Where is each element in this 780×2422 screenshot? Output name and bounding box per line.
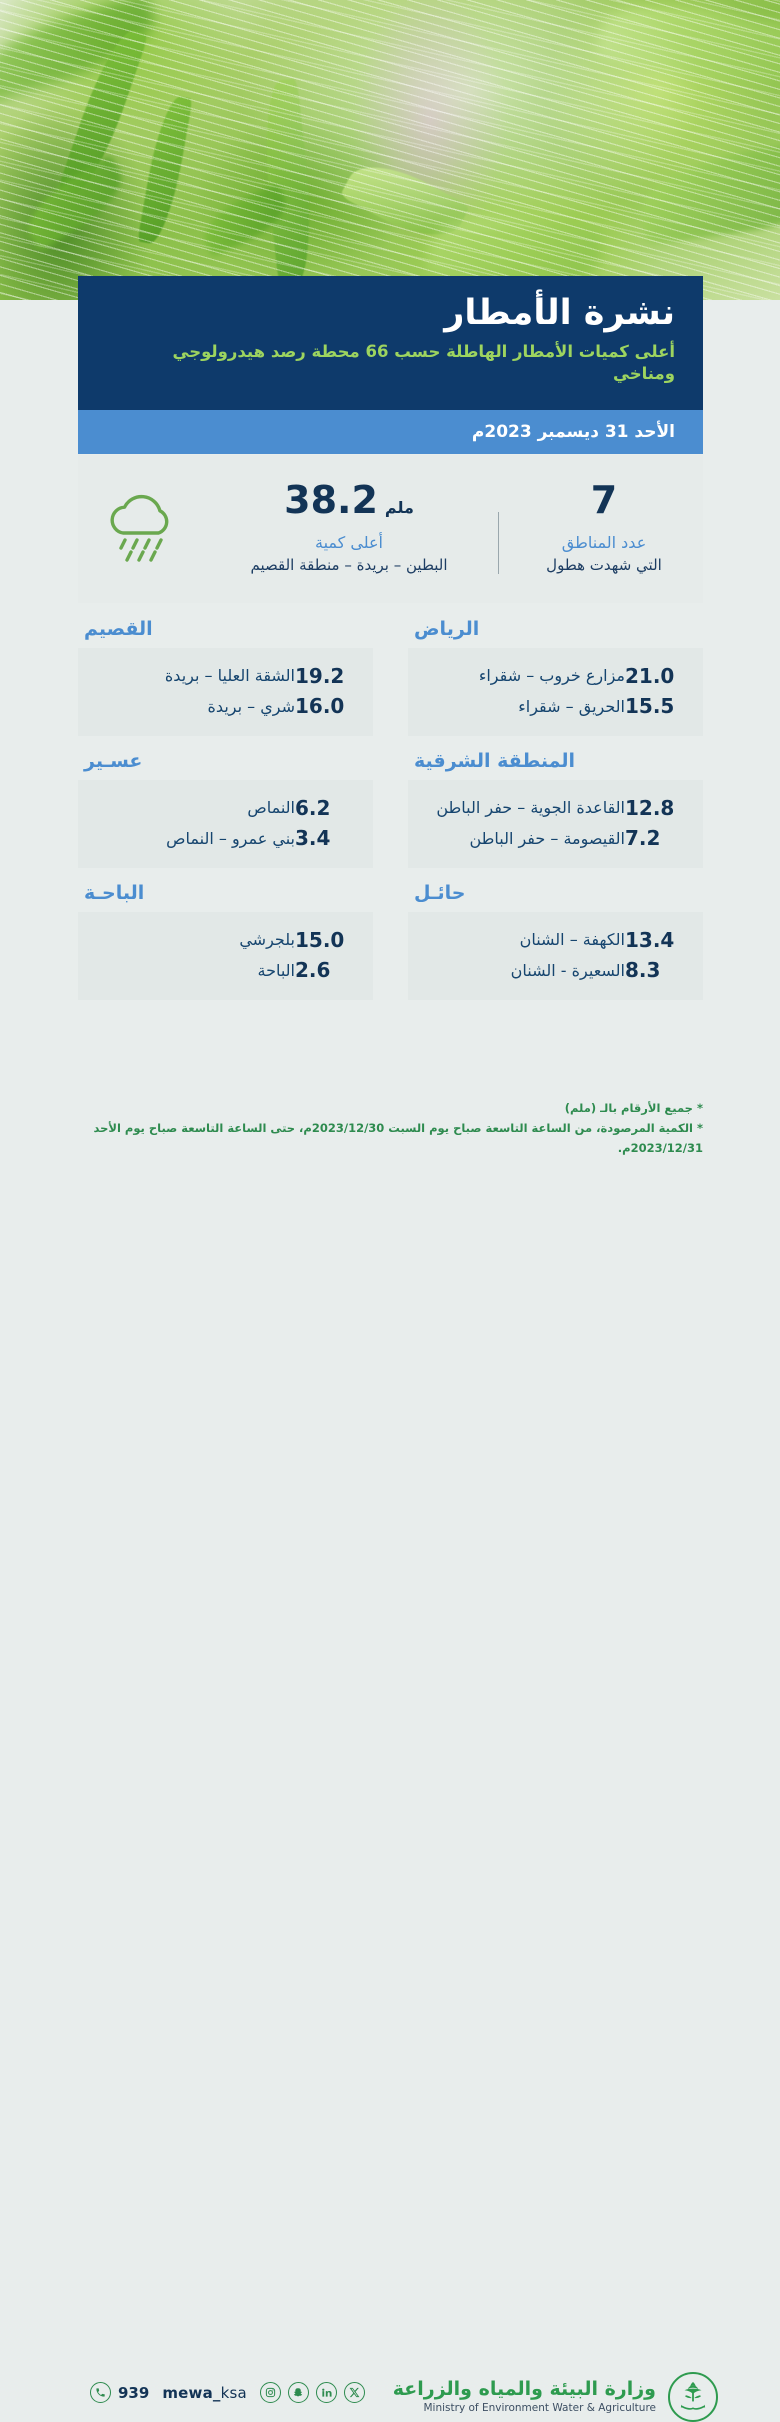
table-row: 19.2 الشقة العليا – بريدة <box>94 663 357 689</box>
region-title: الباحـة <box>78 882 373 912</box>
highest-amount-location: البطين – بريدة – منطقة القصيم <box>210 554 488 577</box>
highest-amount-unit: ملم <box>385 500 414 517</box>
regions-count-sub: التي شهدت هطول <box>509 554 699 577</box>
table-row: 16.0 شري – بريدة <box>94 694 357 720</box>
station-name: الحريق – شقراء <box>424 694 625 720</box>
footnote-period: * الكمية المرصودة، من الساعة التاسعة صبا… <box>78 1118 703 1158</box>
station-value: 2.6 <box>295 958 357 982</box>
station-name: بلجرشي <box>94 927 295 953</box>
summary-strip: 7 عدد المناطق التي شهدت هطول ملم 38.2 أع… <box>78 455 703 603</box>
hero-rain-photo <box>0 0 780 300</box>
footer: mewa_ksa 939 <box>0 1176 780 1280</box>
social-handle: mewa_ksa <box>162 2384 247 2402</box>
highest-amount-value: 38.2 <box>284 481 378 521</box>
regions-grid: الرياض 21.0 مزارع خروب – شقراء 15.5 الحر… <box>78 618 703 1000</box>
summary-divider <box>498 512 499 574</box>
table-row: 6.2 النماص <box>94 795 357 821</box>
highest-amount-label: أعلى كمية <box>210 531 488 554</box>
region-card-riyadh: الرياض 21.0 مزارع خروب – شقراء 15.5 الحر… <box>408 618 703 736</box>
region-stations: 19.2 الشقة العليا – بريدة 16.0 شري – بري… <box>78 648 373 736</box>
table-row: 13.4 الكهفة – الشنان <box>424 927 687 953</box>
station-name: الشقة العليا – بريدة <box>94 663 295 689</box>
summary-regions-count: 7 عدد المناطق التي شهدت هطول <box>505 481 703 577</box>
x-twitter-icon[interactable] <box>344 2382 365 2403</box>
station-name: القاعدة الجوية – حفر الباطن <box>424 795 625 821</box>
station-value: 12.8 <box>625 796 687 820</box>
station-name: الكهفة – الشنان <box>424 927 625 953</box>
region-title: حائـل <box>408 882 703 912</box>
phone-icon <box>90 2382 111 2403</box>
region-card-qassim: القصيم 19.2 الشقة العليا – بريدة 16.0 شر… <box>78 618 373 736</box>
saudi-palm-swords-emblem-icon <box>668 2372 718 2422</box>
ministry-name-en: Ministry of Environment Water & Agricult… <box>393 2401 656 2416</box>
station-name: بني عمرو – النماص <box>94 826 295 852</box>
table-row: 21.0 مزارع خروب – شقراء <box>424 663 687 689</box>
region-stations: 6.2 النماص 3.4 بني عمرو – النماص <box>78 780 373 868</box>
handle-bold: mewa_ <box>162 2384 220 2402</box>
rain-cloud-icon <box>78 493 206 565</box>
date-bar: الأحد 31 ديسمبر 2023م <box>78 410 703 454</box>
station-value: 15.5 <box>625 694 687 718</box>
region-card-asir: عسـير 6.2 النماص 3.4 بني عمرو – النماص <box>78 750 373 868</box>
station-value: 21.0 <box>625 664 687 688</box>
region-stations: 15.0 بلجرشي 2.6 الباحة <box>78 912 373 1000</box>
station-value: 3.4 <box>295 826 357 850</box>
phone-number: 939 <box>118 2384 149 2402</box>
footnote-units: * جميع الأرقام بالـ (ملم) <box>78 1098 703 1118</box>
summary-highest-amount: ملم 38.2 أعلى كمية البطين – بريدة – منطق… <box>206 481 492 577</box>
region-title: الرياض <box>408 618 703 648</box>
table-row: 15.0 بلجرشي <box>94 927 357 953</box>
region-stations: 21.0 مزارع خروب – شقراء 15.5 الحريق – شق… <box>408 648 703 736</box>
station-name: النماص <box>94 795 295 821</box>
highest-amount-value-wrap: ملم 38.2 <box>210 481 488 521</box>
station-name: الباحة <box>94 958 295 984</box>
table-row: 8.3 السعيرة - الشنان <box>424 958 687 984</box>
station-value: 19.2 <box>295 664 357 688</box>
rain-streaks-secondary <box>0 0 780 300</box>
station-name: السعيرة - الشنان <box>424 958 625 984</box>
station-value: 6.2 <box>295 796 357 820</box>
table-row: 3.4 بني عمرو – النماص <box>94 826 357 852</box>
table-row: 12.8 القاعدة الجوية – حفر الباطن <box>424 795 687 821</box>
region-title: القصيم <box>78 618 373 648</box>
station-value: 8.3 <box>625 958 687 982</box>
region-stations: 12.8 القاعدة الجوية – حفر الباطن 7.2 الق… <box>408 780 703 868</box>
station-name: مزارع خروب – شقراء <box>424 663 625 689</box>
station-value: 15.0 <box>295 928 357 952</box>
region-stations: 13.4 الكهفة – الشنان 8.3 السعيرة - الشنا… <box>408 912 703 1000</box>
station-name: شري – بريدة <box>94 694 295 720</box>
region-card-albaha: الباحـة 15.0 بلجرشي 2.6 الباحة <box>78 882 373 1000</box>
header-banner: نشرة الأمطار أعلى كميات الأمطار الهاطلة … <box>78 276 703 410</box>
report-date: الأحد 31 ديسمبر 2023م <box>472 422 675 442</box>
ministry-name-block: وزارة البيئة والمياه والزراعة Ministry o… <box>393 2378 656 2415</box>
page-title: نشرة الأمطار <box>106 292 675 335</box>
page-subtitle: أعلى كميات الأمطار الهاطلة حسب 66 محطة ر… <box>106 341 675 386</box>
station-value: 16.0 <box>295 694 357 718</box>
station-value: 13.4 <box>625 928 687 952</box>
table-row: 15.5 الحريق – شقراء <box>424 694 687 720</box>
regions-count-value: 7 <box>509 481 699 521</box>
station-value: 7.2 <box>625 826 687 850</box>
regions-count-label: عدد المناطق <box>509 531 699 554</box>
station-name: القيصومة – حفر الباطن <box>424 826 625 852</box>
table-row: 2.6 الباحة <box>94 958 357 984</box>
handle-light: ksa <box>221 2384 247 2402</box>
snapchat-icon[interactable] <box>288 2382 309 2403</box>
social-bar: mewa_ksa 939 <box>78 2382 365 2403</box>
region-title: المنطقة الشرقية <box>408 750 703 780</box>
region-card-hail: حائـل 13.4 الكهفة – الشنان 8.3 السعيرة -… <box>408 882 703 1000</box>
footnotes: * جميع الأرقام بالـ (ملم) * الكمية المرص… <box>78 1098 703 1158</box>
region-card-eastern-province: المنطقة الشرقية 12.8 القاعدة الجوية – حف… <box>408 750 703 868</box>
ministry-logo: وزارة البيئة والمياه والزراعة Ministry o… <box>393 2372 718 2422</box>
region-title: عسـير <box>78 750 373 780</box>
table-row: 7.2 القيصومة – حفر الباطن <box>424 826 687 852</box>
phone-block[interactable]: 939 <box>90 2382 149 2403</box>
linkedin-icon[interactable] <box>316 2382 337 2403</box>
instagram-icon[interactable] <box>260 2382 281 2403</box>
ministry-name-ar: وزارة البيئة والمياه والزراعة <box>393 2378 656 2401</box>
